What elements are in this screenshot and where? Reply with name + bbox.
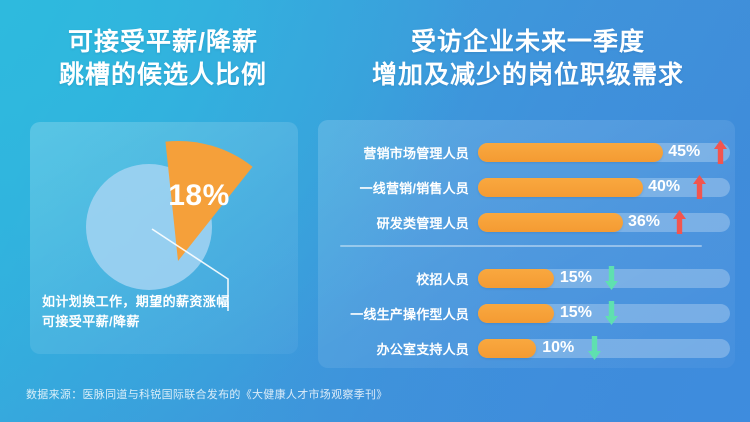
bar-track: 10% [478, 339, 730, 358]
arrow-down-icon [605, 266, 618, 290]
bar-fill [478, 143, 663, 162]
bar-fill [478, 269, 554, 288]
bar-label: 研发类管理人员 [330, 213, 478, 232]
bar-row[interactable]: 办公室支持人员 10% [330, 335, 730, 361]
bar-row[interactable]: 研发类管理人员 36% [330, 209, 730, 235]
bar-row[interactable]: 营销市场管理人员 45% [330, 139, 730, 165]
left-title-line-2: 跳槽的候选人比例 [18, 59, 308, 92]
bar-row[interactable]: 一线生产操作型人员 15% [330, 300, 730, 326]
bar-track: 15% [478, 269, 730, 288]
arrow-up-icon [693, 175, 706, 199]
bar-label: 一线生产操作型人员 [330, 304, 478, 323]
bar-label: 校招人员 [330, 269, 478, 288]
bar-value: 36% [628, 213, 660, 231]
arrow-up-icon [673, 210, 686, 234]
right-title-line-2: 增加及减少的岗位职级需求 [318, 59, 738, 92]
bar-label: 办公室支持人员 [330, 339, 478, 358]
bar-label: 营销市场管理人员 [330, 143, 478, 162]
bar-fill [478, 339, 536, 358]
left-panel-caption: 如计划换工作，期望的薪资涨幅 可接受平薪/降薪 [42, 292, 292, 332]
bar-row[interactable]: 校招人员 15% [330, 265, 730, 291]
right-title-line-1: 受访企业未来一季度 [318, 26, 738, 59]
bar-value: 15% [560, 304, 592, 322]
bar-fill [478, 304, 554, 323]
caption-line-2: 可接受平薪/降薪 [42, 312, 292, 332]
bar-fill [478, 178, 643, 197]
arrow-up-icon [714, 140, 727, 164]
arrow-down-icon [588, 336, 601, 360]
pie-value-label: 18% [154, 179, 244, 213]
group-divider [340, 245, 702, 247]
bar-label: 一线营销/销售人员 [330, 178, 478, 197]
data-source-footer: 数据来源：医脉同道与科锐国际联合发布的《大健康人才市场观察季刊》 [26, 386, 388, 402]
bar-track: 40% [478, 178, 730, 197]
left-title-line-1: 可接受平薪/降薪 [18, 26, 308, 59]
bar-value: 15% [560, 269, 592, 287]
infographic-poster: 可接受平薪/降薪 跳槽的候选人比例 受访企业未来一季度 增加及减少的岗位职级需求… [0, 0, 750, 422]
arrow-down-icon [605, 301, 618, 325]
bar-track: 36% [478, 213, 730, 232]
bar-value: 40% [648, 178, 680, 196]
bar-fill [478, 213, 623, 232]
caption-line-1: 如计划换工作，期望的薪资涨幅 [42, 292, 292, 312]
bar-track: 45% [478, 143, 730, 162]
left-panel-title: 可接受平薪/降薪 跳槽的候选人比例 [18, 26, 308, 92]
bar-track: 15% [478, 304, 730, 323]
right-panel-title: 受访企业未来一季度 增加及减少的岗位职级需求 [318, 26, 738, 92]
bar-row[interactable]: 一线营销/销售人员 40% [330, 174, 730, 200]
bar-value: 10% [542, 339, 574, 357]
pie-chart: 18% [30, 122, 298, 282]
bar-value: 45% [668, 143, 700, 161]
